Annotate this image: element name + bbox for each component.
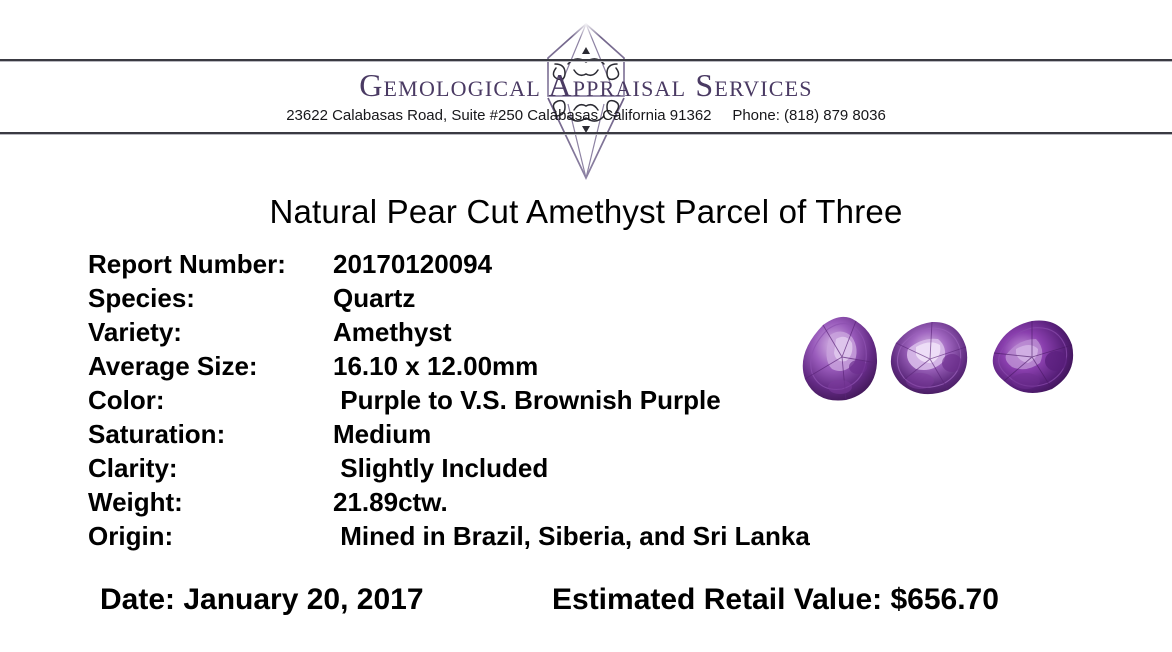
brand-name: Gemological Appraisal Services	[0, 66, 1172, 104]
header-rule-top	[0, 59, 1172, 62]
company-address: 23622 Calabasas Road, Suite #250 Calabas…	[0, 106, 1172, 126]
spec-row-weight: Weight: 21.89ctw.	[88, 487, 898, 521]
spec-label-origin: Origin:	[88, 521, 333, 552]
appraisal-date: Date: January 20, 2017	[100, 583, 424, 617]
spec-value-saturation: Medium	[333, 419, 431, 450]
spec-label-saturation: Saturation:	[88, 419, 333, 450]
spec-value-average-size: 16.10 x 12.00mm	[333, 351, 538, 382]
document-footer: Date: January 20, 2017 Estimated Retail …	[0, 583, 1172, 625]
spec-label-clarity: Clarity:	[88, 453, 333, 484]
letterhead: Gemological Appraisal Services 23622 Cal…	[0, 0, 1172, 185]
spec-label-color: Color:	[88, 385, 333, 416]
spec-row-variety: Variety: Amethyst	[88, 317, 898, 351]
spec-label-variety: Variety:	[88, 317, 333, 348]
spec-row-report-number: Report Number: 20170120094	[88, 249, 898, 283]
spec-value-report-number: 20170120094	[333, 249, 492, 280]
specification-table: Report Number: 20170120094 Species: Quar…	[88, 249, 898, 555]
spec-row-color: Color: Purple to V.S. Brownish Purple	[88, 385, 898, 419]
spec-label-average-size: Average Size:	[88, 351, 333, 382]
spec-label-report-number: Report Number:	[88, 249, 333, 280]
estimated-retail-value: Estimated Retail Value: $656.70	[552, 583, 999, 617]
spec-row-clarity: Clarity: Slightly Included	[88, 453, 898, 487]
gemstone-3	[993, 321, 1073, 394]
spec-row-saturation: Saturation: Medium	[88, 419, 898, 453]
spec-value-species: Quartz	[333, 283, 415, 314]
spec-label-weight: Weight:	[88, 487, 333, 518]
spec-label-species: Species:	[88, 283, 333, 314]
page-title: Natural Pear Cut Amethyst Parcel of Thre…	[0, 193, 1172, 231]
spec-row-origin: Origin: Mined in Brazil, Siberia, and Sr…	[88, 521, 898, 555]
spec-value-variety: Amethyst	[333, 317, 451, 348]
spec-value-color: Purple to V.S. Brownish Purple	[333, 385, 721, 416]
gemstone-2	[891, 322, 967, 394]
spec-row-species: Species: Quartz	[88, 283, 898, 317]
spec-value-clarity: Slightly Included	[333, 453, 548, 484]
header-rule-bottom	[0, 132, 1172, 135]
spec-value-weight: 21.89ctw.	[333, 487, 448, 518]
appraisal-document-page: Gemological Appraisal Services 23622 Cal…	[0, 0, 1172, 652]
spec-value-origin: Mined in Brazil, Siberia, and Sri Lanka	[333, 521, 810, 552]
spec-row-average-size: Average Size: 16.10 x 12.00mm	[88, 351, 898, 385]
